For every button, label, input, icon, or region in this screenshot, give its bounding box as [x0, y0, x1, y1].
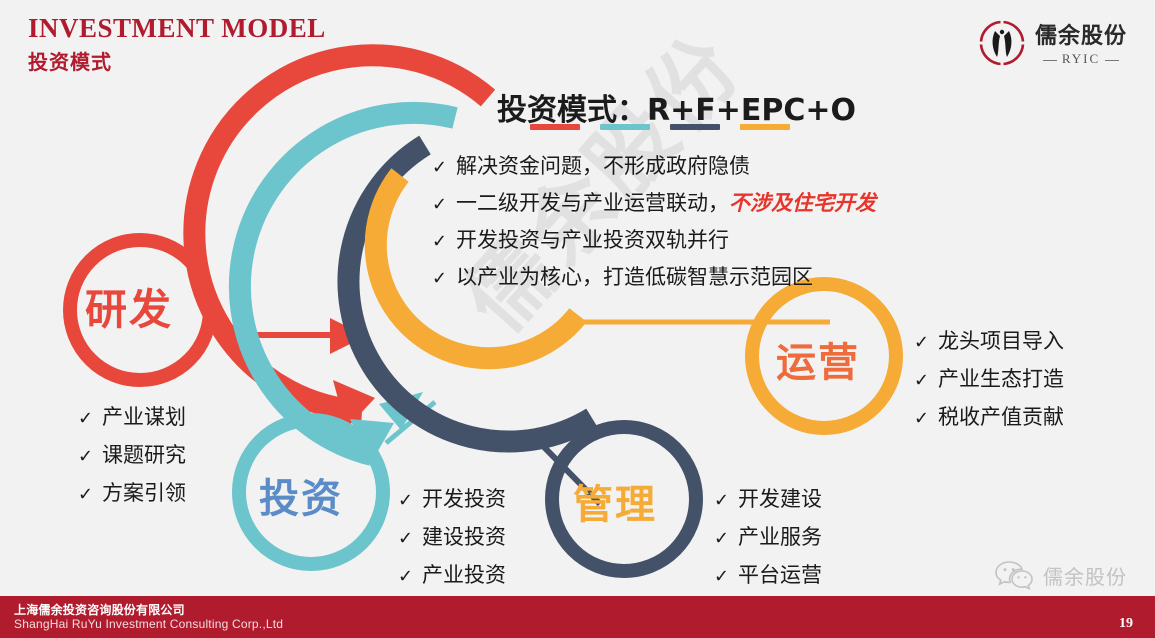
page-title-cn: 投资模式	[28, 46, 326, 75]
bullet-text: 解决资金问题，不形成政府隐债	[456, 148, 750, 185]
check-icon: ✓	[432, 233, 447, 251]
list-item: ✓ 产业谋划	[78, 398, 186, 436]
bullet-text: 以产业为核心，打造低碳智慧示范园区	[456, 259, 813, 296]
footer-company-en: ShangHai RuYu Investment Consulting Corp…	[14, 617, 283, 631]
check-icon: ✓	[432, 159, 447, 177]
list-item: ✓ 产业服务	[714, 518, 822, 556]
list-item: ✓ 以产业为核心，打造低碳智慧示范园区	[432, 259, 876, 296]
list-item: ✓ 方案引领	[78, 474, 186, 512]
check-icon: ✓	[398, 492, 413, 510]
company-logo: 儒余股份 RYIC	[978, 18, 1127, 67]
logo-name-en: RYIC	[1038, 51, 1124, 67]
node-label-rd: 研发	[85, 276, 173, 337]
bullet-text: 平台运营	[738, 556, 822, 594]
bullet-text: 开发投资与产业投资双轨并行	[456, 222, 729, 259]
logo-name-cn: 儒余股份	[1035, 18, 1127, 50]
bullet-text: 产业投资	[422, 556, 506, 594]
bullet-text: 建设投资	[422, 518, 506, 556]
slide-canvas: 儒余股份	[0, 0, 1155, 638]
logo-emblem-icon	[978, 19, 1026, 67]
bullet-text: 产业谋划	[102, 398, 186, 436]
wechat-mark: 儒余股份	[995, 560, 1127, 590]
node-label-mgmt: 管理	[573, 472, 657, 530]
bullet-text: 开发建设	[738, 480, 822, 518]
check-icon: ✓	[914, 410, 929, 428]
logo-name-en-text: RYIC	[1062, 51, 1100, 66]
check-icon: ✓	[398, 530, 413, 548]
check-icon: ✓	[914, 372, 929, 390]
bullet-text: 方案引领	[102, 474, 186, 512]
check-icon: ✓	[398, 568, 413, 586]
list-item: ✓ 开发投资与产业投资双轨并行	[432, 222, 876, 259]
page-number: 19	[1119, 616, 1133, 632]
list-item: ✓ 建设投资	[398, 518, 506, 556]
bullet-highlight: 不涉及住宅开发	[729, 185, 876, 222]
footer-bar: 上海儒余投资咨询股份有限公司 ShangHai RuYu Investment …	[0, 596, 1155, 638]
list-item: ✓ 解决资金问题，不形成政府隐债	[432, 148, 876, 185]
node-list-rd: ✓ 产业谋划 ✓ 课题研究 ✓ 方案引领	[78, 398, 186, 512]
check-icon: ✓	[432, 270, 447, 288]
check-icon: ✓	[914, 334, 929, 352]
node-list-inv: ✓ 开发投资 ✓ 建设投资 ✓ 产业投资	[398, 480, 506, 594]
heading-rule-red	[530, 124, 580, 130]
main-bullet-list: ✓ 解决资金问题，不形成政府隐债 ✓ 一二级开发与产业运营联动， 不涉及住宅开发…	[432, 148, 876, 296]
bullet-text: 税收产值贡献	[938, 398, 1064, 436]
heading-rule-group	[530, 124, 790, 130]
check-icon: ✓	[714, 492, 729, 510]
bullet-text: 产业生态打造	[938, 360, 1064, 398]
list-item: ✓ 税收产值贡献	[914, 398, 1064, 436]
bullet-text: 一二级开发与产业运营联动，	[456, 185, 729, 222]
page-title: INVESTMENT MODEL 投资模式	[28, 14, 326, 75]
node-list-mgmt: ✓ 开发建设 ✓ 产业服务 ✓ 平台运营	[714, 480, 822, 594]
list-item: ✓ 产业生态打造	[914, 360, 1064, 398]
list-item: ✓ 开发建设	[714, 480, 822, 518]
node-list-ops: ✓ 龙头项目导入 ✓ 产业生态打造 ✓ 税收产值贡献	[914, 322, 1064, 436]
list-item: ✓ 课题研究	[78, 436, 186, 474]
list-item: ✓ 一二级开发与产业运营联动， 不涉及住宅开发	[432, 185, 876, 222]
list-item: ✓ 产业投资	[398, 556, 506, 594]
bullet-text: 产业服务	[738, 518, 822, 556]
heading-rule-navy	[670, 124, 720, 130]
heading-rule-cyan	[600, 124, 650, 130]
heading-rule-orange	[740, 124, 790, 130]
wechat-label: 儒余股份	[1043, 561, 1127, 590]
wechat-icon	[995, 560, 1035, 590]
check-icon: ✓	[714, 530, 729, 548]
footer-company-cn: 上海儒余投资咨询股份有限公司	[14, 601, 185, 618]
check-icon: ✓	[78, 410, 93, 428]
check-icon: ✓	[432, 196, 447, 214]
bullet-text: 课题研究	[102, 436, 186, 474]
list-item: ✓ 开发投资	[398, 480, 506, 518]
list-item: ✓ 平台运营	[714, 556, 822, 594]
check-icon: ✓	[78, 448, 93, 466]
check-icon: ✓	[714, 568, 729, 586]
page-title-en: INVESTMENT MODEL	[28, 14, 326, 42]
bullet-text: 龙头项目导入	[938, 322, 1064, 360]
check-icon: ✓	[78, 486, 93, 504]
bullet-text: 开发投资	[422, 480, 506, 518]
logo-text: 儒余股份 RYIC	[1035, 18, 1127, 67]
center-heading: 投资模式：R+F+EPC+O	[497, 85, 856, 129]
node-label-ops: 运营	[776, 330, 860, 388]
list-item: ✓ 龙头项目导入	[914, 322, 1064, 360]
node-label-inv: 投资	[259, 466, 343, 524]
